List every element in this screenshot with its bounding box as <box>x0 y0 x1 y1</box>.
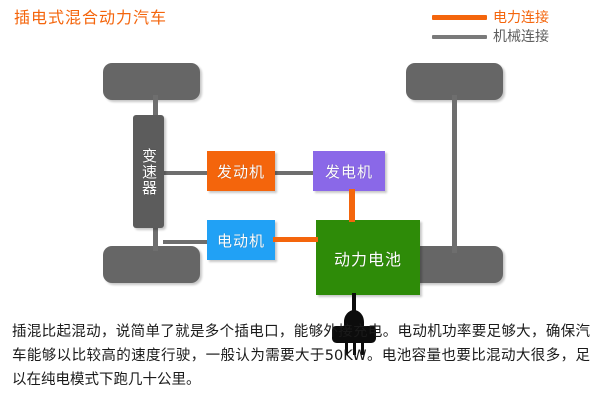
mechanical-link-engine-generator <box>271 171 317 175</box>
legend-item-electric: 电力连接 <box>432 8 549 27</box>
electric-link-motor-battery <box>273 237 318 242</box>
component-battery: 动力电池 <box>316 220 420 295</box>
component-transmission: 变速器 <box>133 115 164 228</box>
component-label-engine: 发动机 <box>217 161 265 182</box>
plug-in-hybrid-infographic: 插电式混合动力汽车 电力连接 机械连接 变速器 发动机 <box>0 0 600 401</box>
left-front-halfshaft <box>153 95 158 117</box>
component-label-battery: 动力电池 <box>334 246 402 270</box>
component-engine: 发动机 <box>207 151 275 191</box>
powertrain-diagram: 变速器 发动机 发电机 电动机 动力电池 <box>0 40 600 315</box>
mechanical-link-transmission-motor <box>163 240 211 244</box>
front-left-wheel <box>103 63 200 100</box>
component-label-motor: 电动机 <box>217 230 265 251</box>
electric-link-generator-battery <box>349 189 355 222</box>
rear-left-wheel <box>103 246 200 283</box>
component-motor: 电动机 <box>207 220 275 260</box>
right-axle <box>452 95 457 253</box>
mechanical-connection-line-icon <box>432 35 487 39</box>
component-label-generator: 发电机 <box>325 161 373 182</box>
page-title: 插电式混合动力汽车 <box>14 8 167 28</box>
mechanical-link-transmission-engine <box>163 171 211 175</box>
component-generator: 发电机 <box>313 151 385 191</box>
left-rear-halfshaft <box>153 224 158 251</box>
caption-text: 插混比起混动，说简单了就是多个插电口，能够外接充电。电动机功率要足够大，确保汽车… <box>12 320 590 392</box>
electric-connection-line-icon <box>432 15 487 20</box>
component-label-transmission: 变速器 <box>140 148 157 196</box>
legend-label-electric: 电力连接 <box>493 9 549 27</box>
